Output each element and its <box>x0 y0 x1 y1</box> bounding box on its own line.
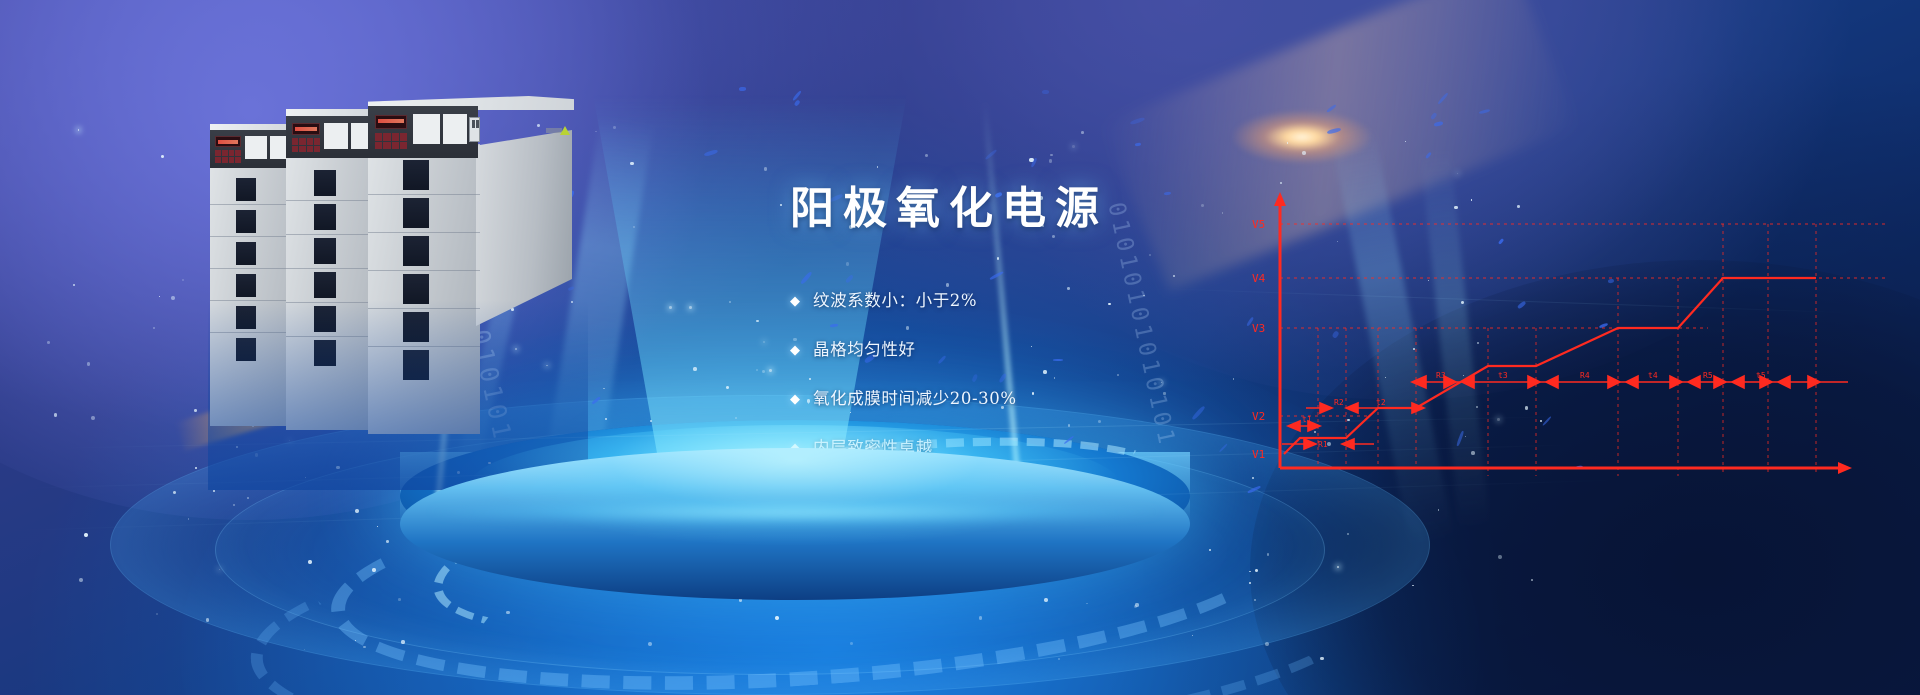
particle <box>877 166 878 167</box>
particle <box>1320 657 1323 660</box>
particle <box>304 649 305 650</box>
particle <box>689 306 692 309</box>
particle <box>153 327 155 329</box>
particle <box>1081 131 1084 134</box>
particle <box>1201 204 1204 207</box>
chart-gridlines <box>1280 224 1888 416</box>
chart-x-axis-arrow <box>1838 462 1852 474</box>
particle <box>1049 159 1053 163</box>
particle <box>206 618 209 621</box>
particle <box>1058 658 1060 660</box>
particle <box>398 598 401 601</box>
diamond-bullet-icon: ◆ <box>790 388 800 410</box>
particle <box>213 490 215 492</box>
particle <box>1347 533 1348 534</box>
particle <box>488 462 491 465</box>
particle <box>521 493 525 497</box>
particle <box>47 341 50 344</box>
feature-bullet-item: ◆氧化成膜时间减少20-30% <box>790 388 1310 410</box>
particle <box>603 388 604 389</box>
light-shard <box>1326 104 1336 113</box>
particle <box>87 362 90 365</box>
banner-stage: 010101010101 01010101010101 <box>0 0 1920 695</box>
feature-bullet-item: ◆内层致密性卓越 <box>790 437 1310 459</box>
particle <box>735 417 737 419</box>
particle <box>763 341 765 343</box>
particle <box>1029 158 1033 162</box>
diamond-bullet-icon: ◆ <box>790 290 800 312</box>
particle <box>1134 605 1137 608</box>
chart-y-axis-arrow <box>1274 192 1286 206</box>
particle <box>1438 509 1439 510</box>
particle <box>613 126 616 129</box>
particle <box>603 522 607 526</box>
feature-bullet-text: 晶格均匀性好 <box>813 339 916 361</box>
light-shard <box>1425 152 1431 159</box>
particle <box>1192 635 1193 636</box>
particle <box>386 540 389 543</box>
particle <box>194 409 197 412</box>
diamond-bullet-icon: ◆ <box>790 437 800 459</box>
chart-span-label-t2: t2 <box>1376 398 1386 407</box>
particle <box>762 370 766 374</box>
particle <box>630 162 633 165</box>
light-shard <box>794 99 801 106</box>
particle <box>363 646 365 648</box>
chart-ytick-v4: V4 <box>1252 272 1266 285</box>
chart-span-label-r5: R5 <box>1703 371 1713 380</box>
particle <box>91 416 95 420</box>
particle <box>78 129 79 130</box>
particle <box>1135 603 1138 606</box>
light-shard <box>1433 121 1442 127</box>
particle <box>756 369 758 371</box>
voltage-ramp-chart: V5 V4 V3 V2 V1 R1 t1 <box>1248 186 1888 496</box>
particle <box>717 562 721 566</box>
light-shard <box>1479 109 1491 115</box>
particle <box>1254 599 1256 601</box>
particle <box>372 568 376 572</box>
particle <box>54 413 57 416</box>
feature-bullet-list: ◆纹波系数小：小于2%◆晶格均匀性好◆氧化成膜时间减少20-30%◆内层致密性卓… <box>790 290 1310 584</box>
particle <box>171 296 175 300</box>
light-shard <box>985 149 998 160</box>
light-shard <box>845 274 854 283</box>
particle <box>671 497 672 498</box>
particle <box>648 642 652 646</box>
feature-bullet-text: 硬质氧化硬度可达HV600以上； <box>823 535 1072 557</box>
particle <box>633 226 635 228</box>
particle <box>1072 145 1075 148</box>
chart-span-label-t3: t3 <box>1498 371 1508 380</box>
chart-span-label-r1: R1 <box>1318 440 1328 449</box>
particle <box>1287 142 1289 144</box>
particle <box>946 283 949 286</box>
light-shard <box>800 272 813 286</box>
particle <box>1412 585 1414 587</box>
particle <box>1044 598 1048 602</box>
particle <box>195 467 197 469</box>
light-shard <box>591 396 600 404</box>
particle <box>1498 555 1502 559</box>
particle <box>595 131 597 133</box>
particle <box>506 611 509 614</box>
particle <box>308 560 312 564</box>
particle <box>84 533 88 537</box>
particle <box>780 204 782 206</box>
feature-bullet-item: ◆不需要无功补偿 <box>790 486 1310 508</box>
particle <box>156 613 158 615</box>
particle <box>764 167 768 171</box>
particle <box>769 369 772 372</box>
particle <box>739 598 743 602</box>
particle <box>401 640 405 644</box>
particle <box>79 578 83 582</box>
particle <box>729 301 732 304</box>
chart-span-label-t5: t5 <box>1756 371 1766 380</box>
light-shard <box>1438 92 1449 105</box>
light-shard <box>1134 143 1140 147</box>
diamond-bullet-icon: ◆ <box>790 486 800 508</box>
feature-bullet-text: 内层致密性卓越 <box>813 437 933 459</box>
diamond-bullet-icon: ◆ <box>800 535 810 557</box>
light-shard <box>670 477 676 481</box>
particle <box>1222 212 1223 213</box>
chart-span-arrows-main <box>1412 376 1848 388</box>
particle <box>925 154 928 157</box>
particle <box>1337 566 1339 568</box>
power-cabinet-group <box>208 100 588 460</box>
light-shard <box>792 89 802 101</box>
feature-bullet-text: 纹波系数小：小于2% <box>813 290 977 312</box>
particle <box>1173 275 1175 277</box>
particle <box>997 257 1000 260</box>
chart-span-arrows-r2t2 <box>1306 403 1424 413</box>
particle <box>1086 603 1087 604</box>
chart-vertical-dividers <box>1318 224 1816 476</box>
particle <box>664 551 667 554</box>
particle <box>756 320 759 323</box>
light-shard <box>1327 128 1341 135</box>
particle <box>233 504 235 506</box>
diamond-bullet-icon: ◆ <box>790 339 800 361</box>
particle <box>377 526 378 527</box>
particle <box>1531 579 1533 581</box>
particle <box>159 296 160 297</box>
chart-series-line <box>1284 278 1816 454</box>
particle <box>73 284 75 286</box>
feature-bullet-text: 不需要无功补偿 <box>813 486 933 508</box>
particle <box>457 471 460 474</box>
light-shard <box>1030 157 1037 168</box>
lens-flare-icon <box>1232 110 1372 164</box>
light-shard <box>1130 116 1145 125</box>
light-shard <box>1163 191 1170 195</box>
particle <box>1405 141 1406 142</box>
particle <box>336 466 339 469</box>
particle <box>305 477 306 478</box>
light-shard <box>704 150 718 158</box>
light-shard <box>989 271 1004 281</box>
particle <box>1280 182 1282 184</box>
light-shard <box>1042 90 1049 94</box>
chart-span-label-r2: R2 <box>1334 398 1344 407</box>
particle <box>850 642 853 645</box>
particle <box>355 640 356 641</box>
particle <box>173 491 176 494</box>
particle <box>1457 173 1458 174</box>
particle <box>182 279 184 281</box>
particle <box>161 155 164 158</box>
particle <box>605 418 607 420</box>
chart-span-label-t4: t4 <box>1648 371 1658 380</box>
particle <box>247 497 249 499</box>
particle <box>650 420 652 422</box>
particle <box>669 306 672 309</box>
particle <box>662 575 663 576</box>
chart-span-label-r3: R3 <box>1436 371 1446 380</box>
particle <box>1302 151 1306 155</box>
feature-bullet-text: 氧化成膜时间减少20-30% <box>813 388 1017 410</box>
light-shard <box>739 87 746 91</box>
particle <box>693 367 697 371</box>
particle <box>692 522 695 525</box>
chart-ytick-v5: V5 <box>1252 218 1265 231</box>
particle <box>219 569 220 570</box>
particle <box>726 386 729 389</box>
particle <box>775 616 779 620</box>
particle <box>979 616 983 620</box>
particle <box>1265 642 1269 646</box>
feature-bullet-item: ◆硬质氧化硬度可达HV600以上； <box>790 535 1310 557</box>
feature-bullet-item: ◆纹波系数小：小于2% <box>790 290 1310 312</box>
particle <box>846 262 849 265</box>
particle <box>355 509 359 513</box>
light-shard <box>1430 112 1437 120</box>
particle <box>1149 254 1151 256</box>
page-title: 阳极氧化电源 <box>790 172 1108 236</box>
chart-span-label-r4: R4 <box>1580 371 1590 380</box>
particle <box>188 518 190 520</box>
particle <box>1050 154 1053 157</box>
particle <box>679 462 682 465</box>
feature-bullet-item: ◆晶格均匀性好 <box>790 339 1310 361</box>
